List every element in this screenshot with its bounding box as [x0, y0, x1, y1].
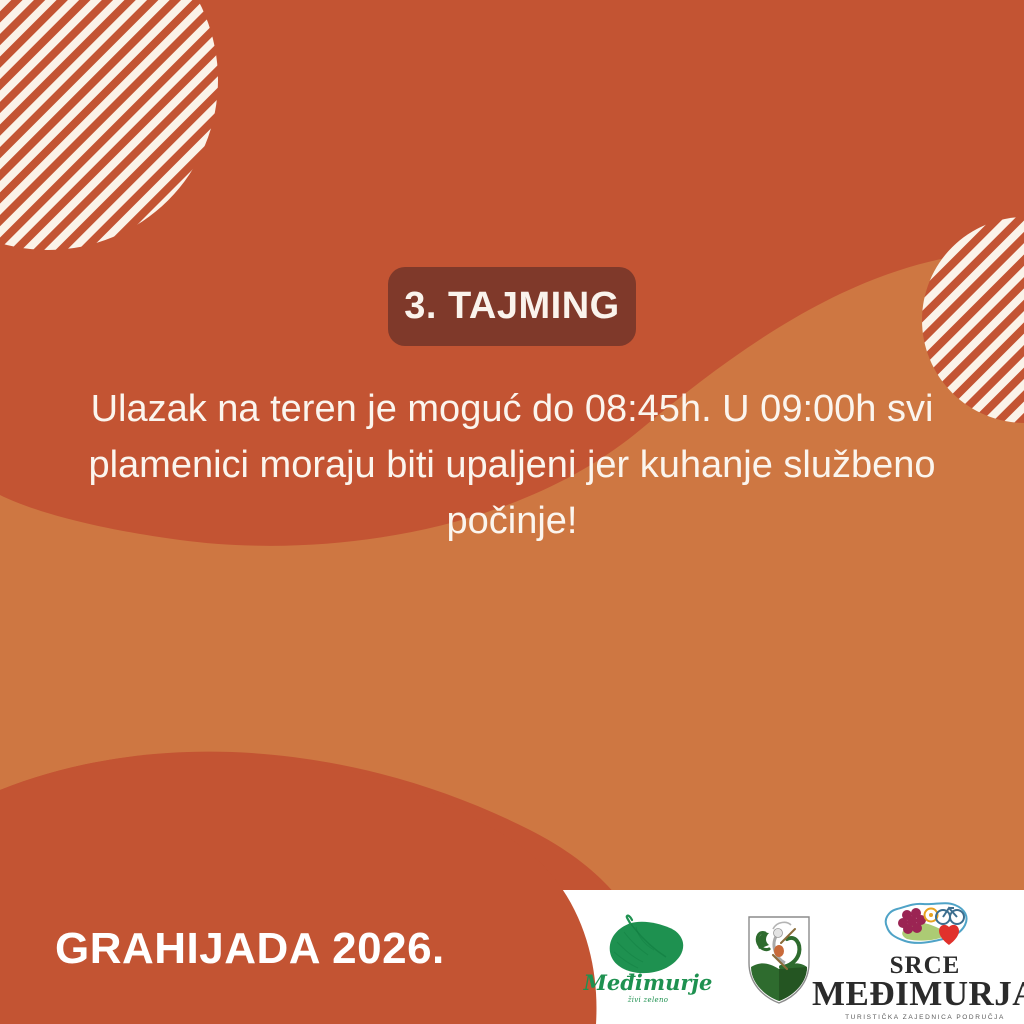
leaf-icon: [602, 914, 694, 976]
map-grapes-bike-heart-icon: [873, 897, 977, 953]
footer-logo-row: Međimurje živi zeleno: [570, 894, 1024, 1024]
event-title: GRAHIJADA 2026.: [55, 924, 445, 974]
srce-line2: MEĐIMURJA: [812, 976, 1024, 1011]
srce-medimurja-logo: SRCE MEĐIMURJA TURISTIČKA ZAJEDNICA PODR…: [840, 897, 1010, 1021]
srce-tagline: TURISTIČKA ZAJEDNICA PODRUČJA: [845, 1014, 1005, 1021]
section-title-badge: 3. TAJMING: [388, 267, 636, 346]
poster-canvas: 3. TAJMING Ulazak na teren je moguć do 0…: [0, 0, 1024, 1024]
body-text: Ulazak na teren je moguć do 08:45h. U 09…: [80, 382, 944, 550]
medimurje-wordmark: Međimurje: [584, 972, 713, 993]
coat-of-arms-logo: [737, 911, 821, 1007]
medimurje-tagline: živi zeleno: [628, 996, 669, 1004]
medimurje-leaf-logo: Međimurje živi zeleno: [578, 914, 718, 1004]
shield-icon: [743, 911, 815, 1007]
section-title-text: 3. TAJMING: [404, 285, 619, 328]
